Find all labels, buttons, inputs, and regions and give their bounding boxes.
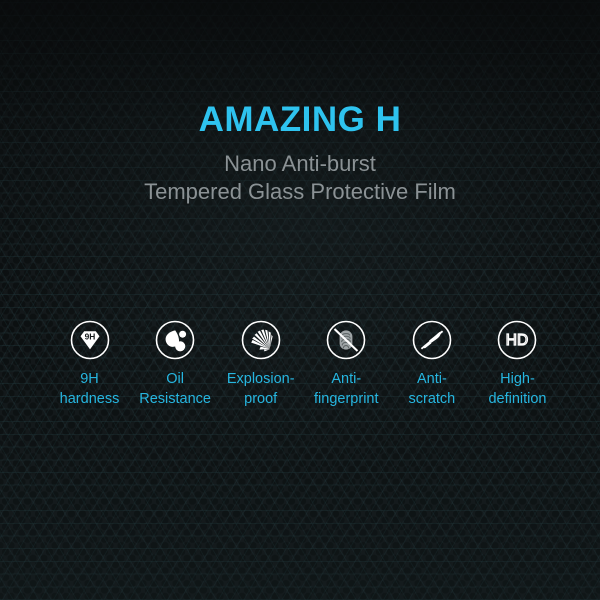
shattered-glass-icon — [239, 318, 283, 362]
subtitle-line-2: Tempered Glass Protective Film — [0, 178, 600, 206]
banner-content: AMAZING H Nano Anti-burst Tempered Glass… — [0, 0, 600, 600]
feature-item-9h-hardness: 9H 9H hardness — [47, 318, 132, 409]
diamond-9h-badge-text: 9H — [84, 332, 95, 342]
feature-item-oil-resistance: Oil Resistance — [133, 318, 218, 409]
feature-item-anti-fingerprint: Anti- fingerprint — [304, 318, 389, 409]
fingerprint-slash-icon — [324, 318, 368, 362]
diamond-9h-icon: 9H — [68, 318, 112, 362]
hd-badge-text: HD — [506, 332, 528, 349]
feature-label-explosion-proof: Explosion- proof — [227, 369, 295, 409]
feature-item-high-definition: HD High- definition — [475, 318, 560, 409]
feature-item-anti-scratch: Anti- scratch — [389, 318, 474, 409]
feature-label-anti-scratch: Anti- scratch — [409, 369, 456, 409]
feature-label-high-definition: High- definition — [488, 369, 546, 409]
oil-droplet-icon — [153, 318, 197, 362]
feature-item-explosion-proof: Explosion- proof — [218, 318, 303, 409]
knife-slash-icon — [410, 318, 454, 362]
feature-list: 9H 9H hardness Oil Resistance — [47, 318, 560, 409]
subtitle-line-1: Nano Anti-burst — [0, 150, 600, 178]
page-title: AMAZING H — [0, 100, 600, 140]
hd-icon: HD — [495, 318, 539, 362]
feature-label-anti-fingerprint: Anti- fingerprint — [314, 369, 378, 409]
feature-label-9h-hardness: 9H hardness — [60, 369, 120, 409]
feature-label-oil-resistance: Oil Resistance — [139, 369, 211, 409]
product-feature-banner: AMAZING H Nano Anti-burst Tempered Glass… — [0, 0, 600, 600]
